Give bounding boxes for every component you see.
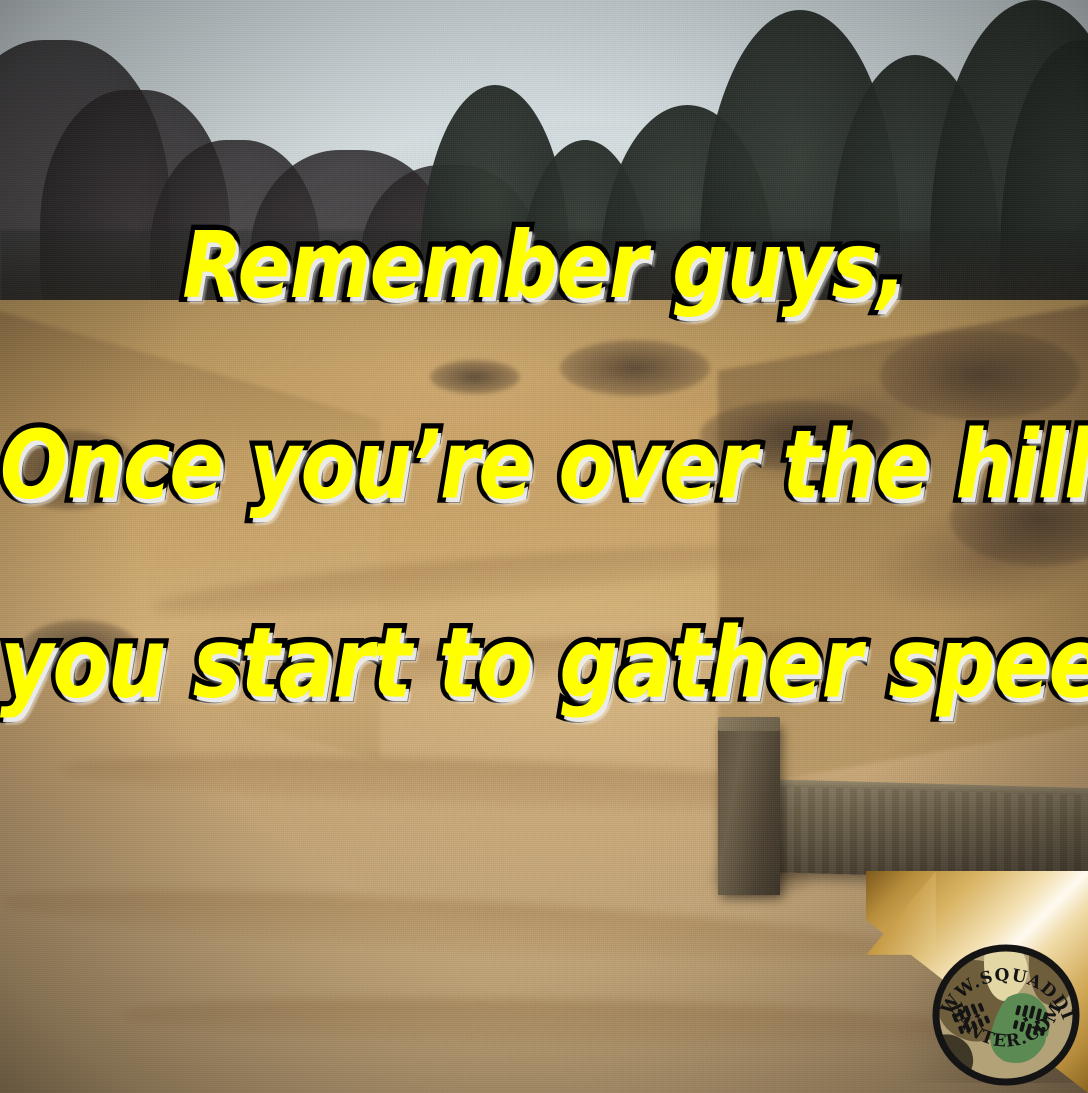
- squaddie-banter-logo[interactable]: WWW.SQUADDIE BANTER.COM: [930, 941, 1082, 1089]
- background-photo: [0, 0, 1088, 1093]
- meme-canvas: Remember guys, Once you’re over the hill…: [0, 0, 1088, 1093]
- photo-vignette: [0, 0, 1088, 1093]
